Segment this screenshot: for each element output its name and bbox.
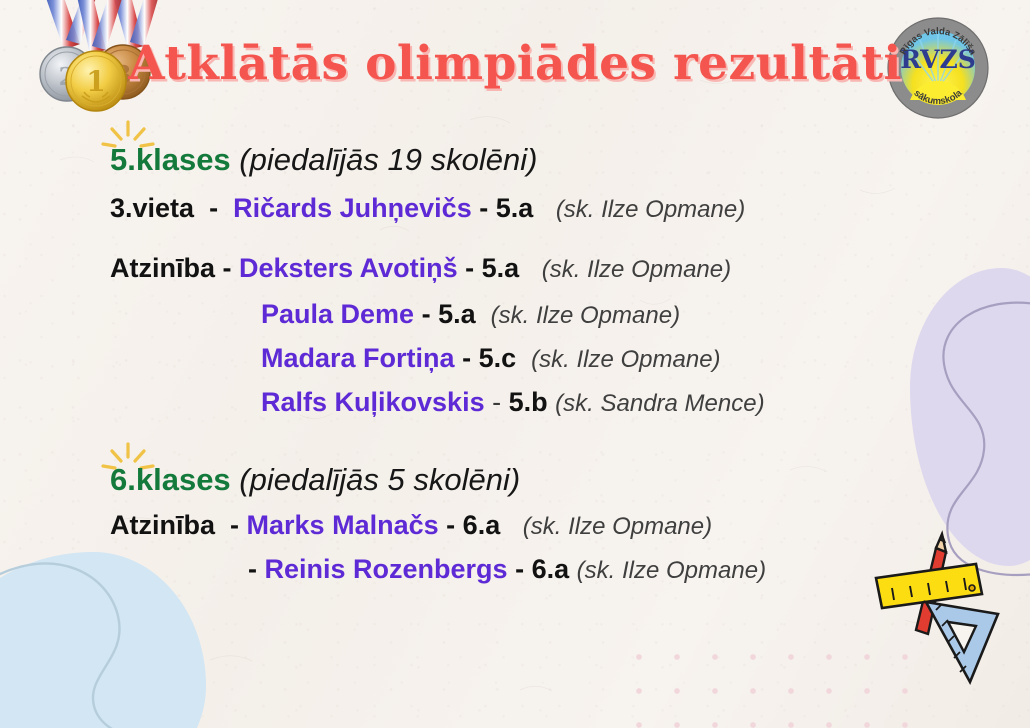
class-label: 6.a (463, 510, 501, 540)
presentation-slide: 2 3 1 (0, 0, 1030, 728)
pupil-name: Marks Malnačs (247, 510, 439, 540)
results-content: 5.klases (piedalījās 19 skolēni) 3.vieta… (0, 0, 1030, 728)
pupil-name: Madara Fortiņa (261, 343, 455, 373)
teacher-label: (sk. Ilze Opmane) (491, 302, 680, 329)
class-dash: - (465, 253, 474, 283)
pupil-name: Reinis Rozenbergs (265, 554, 508, 584)
pupil-name: Deksters Avotiņš (239, 253, 458, 283)
class-label: 5.a (482, 253, 520, 283)
award-label: 3.vieta (110, 193, 194, 223)
result-row: Madara Fortiņa - 5.c (sk. Ilze Opmane) (261, 345, 721, 372)
teacher-label: (sk. Ilze Opmane) (523, 513, 712, 540)
class-label: 5.c (479, 343, 517, 373)
result-row: 3.vieta - Ričards Juhņevičs - 5.a (sk. I… (110, 195, 745, 222)
grade-participants-6: (piedalījās 5 skolēni) (239, 462, 520, 497)
teacher-label: (sk. Ilze Opmane) (542, 256, 731, 283)
class-dash: - (492, 387, 501, 417)
grade-participants-5: (piedalījās 19 skolēni) (239, 142, 537, 177)
pupil-name: Paula Deme (261, 299, 414, 329)
separator-dash: - (248, 554, 257, 584)
class-dash: - (446, 510, 455, 540)
result-row: Atzinība - Deksters Avotiņš - 5.a (sk. I… (110, 255, 731, 282)
teacher-label: (sk. Ilze Opmane) (556, 196, 745, 223)
class-label: 5.a (438, 299, 476, 329)
award-label: Atzinība (110, 253, 215, 283)
class-label: 5.b (509, 387, 548, 417)
separator-dash: - (223, 253, 232, 283)
grade-heading-6: 6.klases (piedalījās 5 skolēni) (110, 464, 520, 495)
teacher-label: (sk. Ilze Opmane) (531, 346, 720, 373)
grade-heading-5: 5.klases (piedalījās 19 skolēni) (110, 144, 537, 175)
separator-dash: - (230, 510, 239, 540)
class-dash: - (422, 299, 431, 329)
result-row: Atzinība - Marks Malnačs - 6.a (sk. Ilze… (110, 512, 712, 539)
teacher-label: (sk. Ilze Opmane) (577, 557, 766, 584)
grade-label-5: 5.klases (110, 142, 231, 177)
class-dash: - (479, 193, 488, 223)
teacher-label: (sk. Sandra Mence) (555, 390, 764, 417)
pupil-name: Ričards Juhņevičs (233, 193, 472, 223)
separator-dash: - (209, 193, 218, 223)
result-row: Ralfs Kuļikovskis - 5.b (sk. Sandra Menc… (261, 389, 765, 416)
award-label: Atzinība (110, 510, 215, 540)
pupil-name: Ralfs Kuļikovskis (261, 387, 485, 417)
class-label: 6.a (532, 554, 570, 584)
class-dash: - (515, 554, 524, 584)
grade-label-6: 6.klases (110, 462, 231, 497)
result-row: Paula Deme - 5.a (sk. Ilze Opmane) (261, 301, 680, 328)
result-row: - Reinis Rozenbergs - 6.a (sk. Ilze Opma… (248, 556, 766, 583)
class-dash: - (462, 343, 471, 373)
class-label: 5.a (496, 193, 534, 223)
